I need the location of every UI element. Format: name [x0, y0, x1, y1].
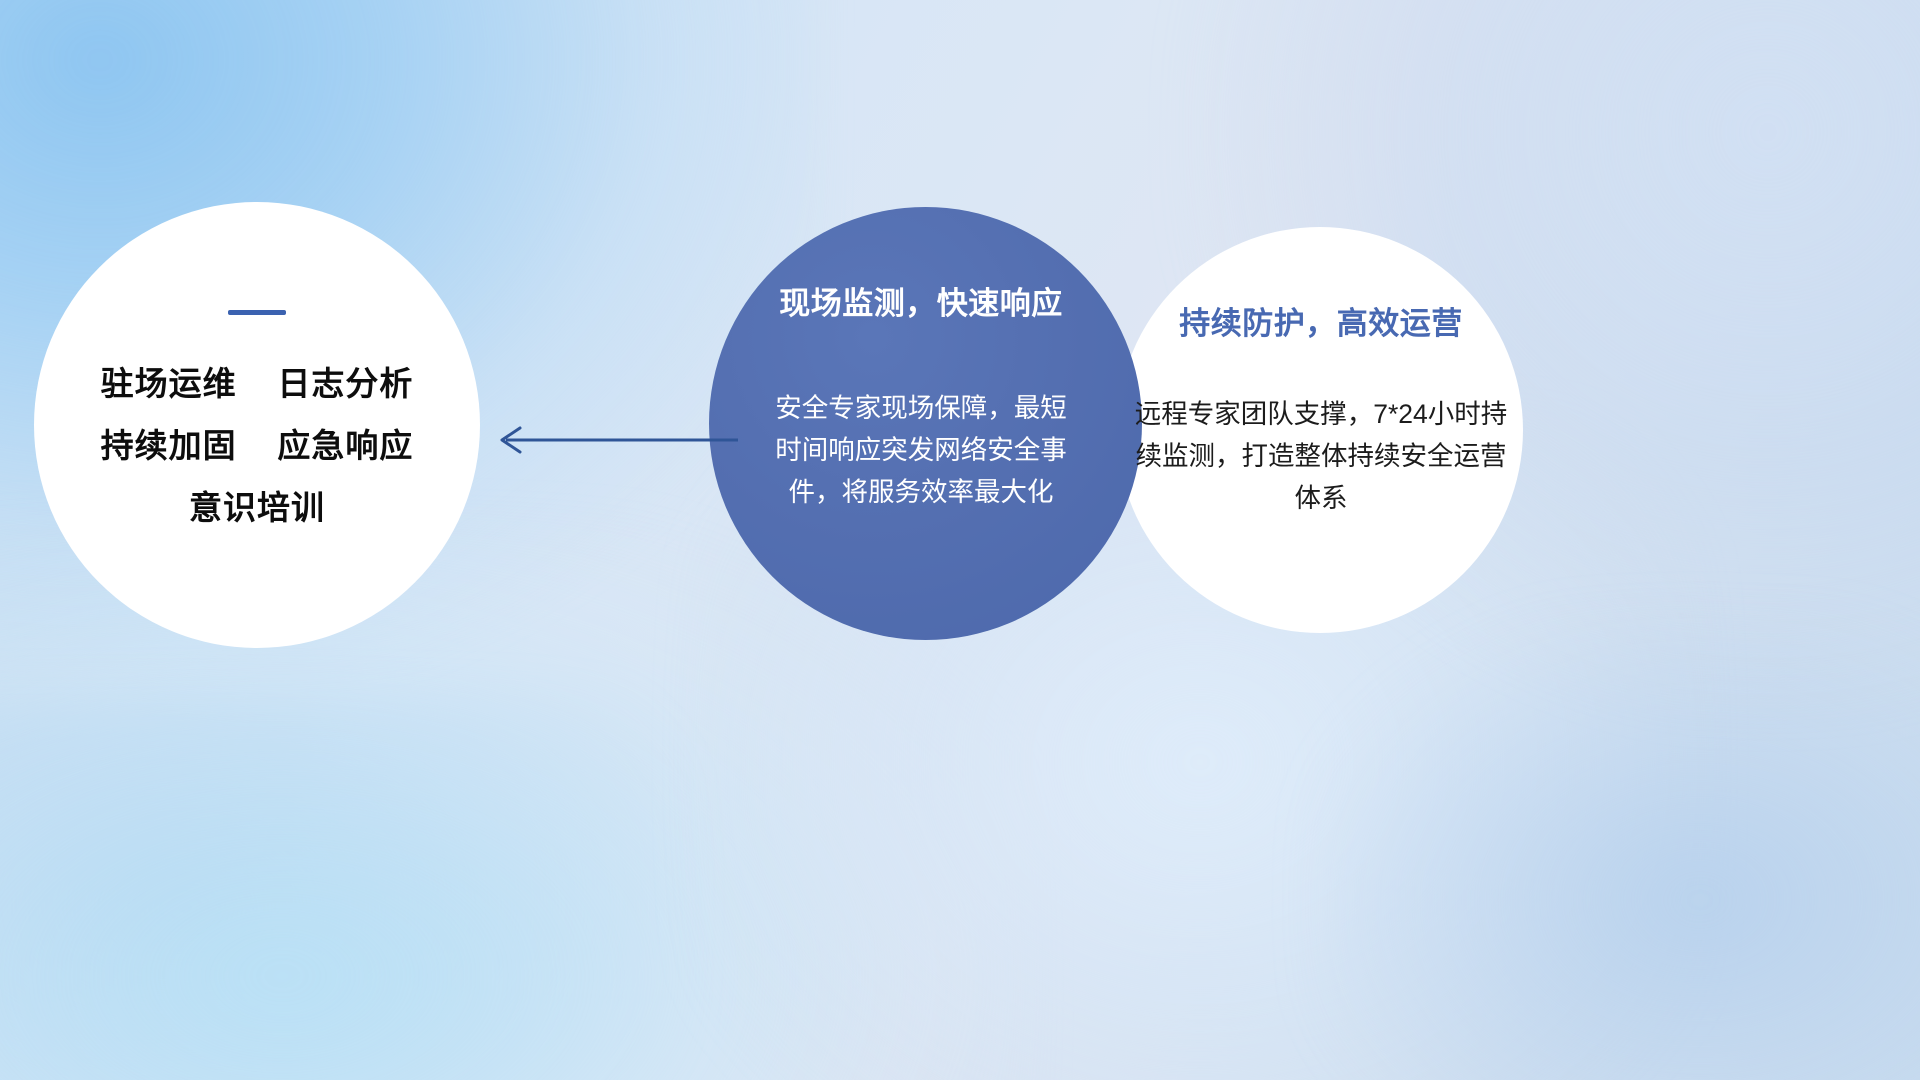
capability-line-1: 驻场运维 日志分析 [101, 367, 414, 400]
background-glow-bottom-right [1320, 620, 1920, 1080]
continuous-protection-body: 远程专家团队支撑，7*24小时持续监测，打造整体持续安全运营体系 [1125, 394, 1517, 520]
divider-dash [228, 310, 286, 315]
onsite-monitoring-heading: 现场监测，快速响应 [756, 285, 1086, 322]
slide-canvas: 驻场运维 日志分析 持续加固 应急响应 意识培训 持续防护，高效运营 远程专家团… [0, 0, 1920, 1080]
onsite-monitoring-body: 安全专家现场保障，最短时间响应突发网络安全事件，将服务效率最大化 [756, 388, 1086, 514]
onsite-monitoring-content: 现场监测，快速响应 安全专家现场保障，最短时间响应突发网络安全事件，将服务效率最… [756, 255, 1086, 595]
left-arrow-icon [480, 408, 740, 472]
capability-line-3: 意识培训 [189, 491, 325, 524]
onsite-capabilities-content: 驻场运维 日志分析 持续加固 应急响应 意识培训 [34, 202, 480, 648]
continuous-protection-content: 持续防护，高效运营 远程专家团队支撑，7*24小时持续监测，打造整体持续安全运营… [1125, 255, 1517, 520]
continuous-protection-heading: 持续防护，高效运营 [1125, 305, 1517, 342]
capability-line-2: 持续加固 应急响应 [101, 429, 414, 462]
